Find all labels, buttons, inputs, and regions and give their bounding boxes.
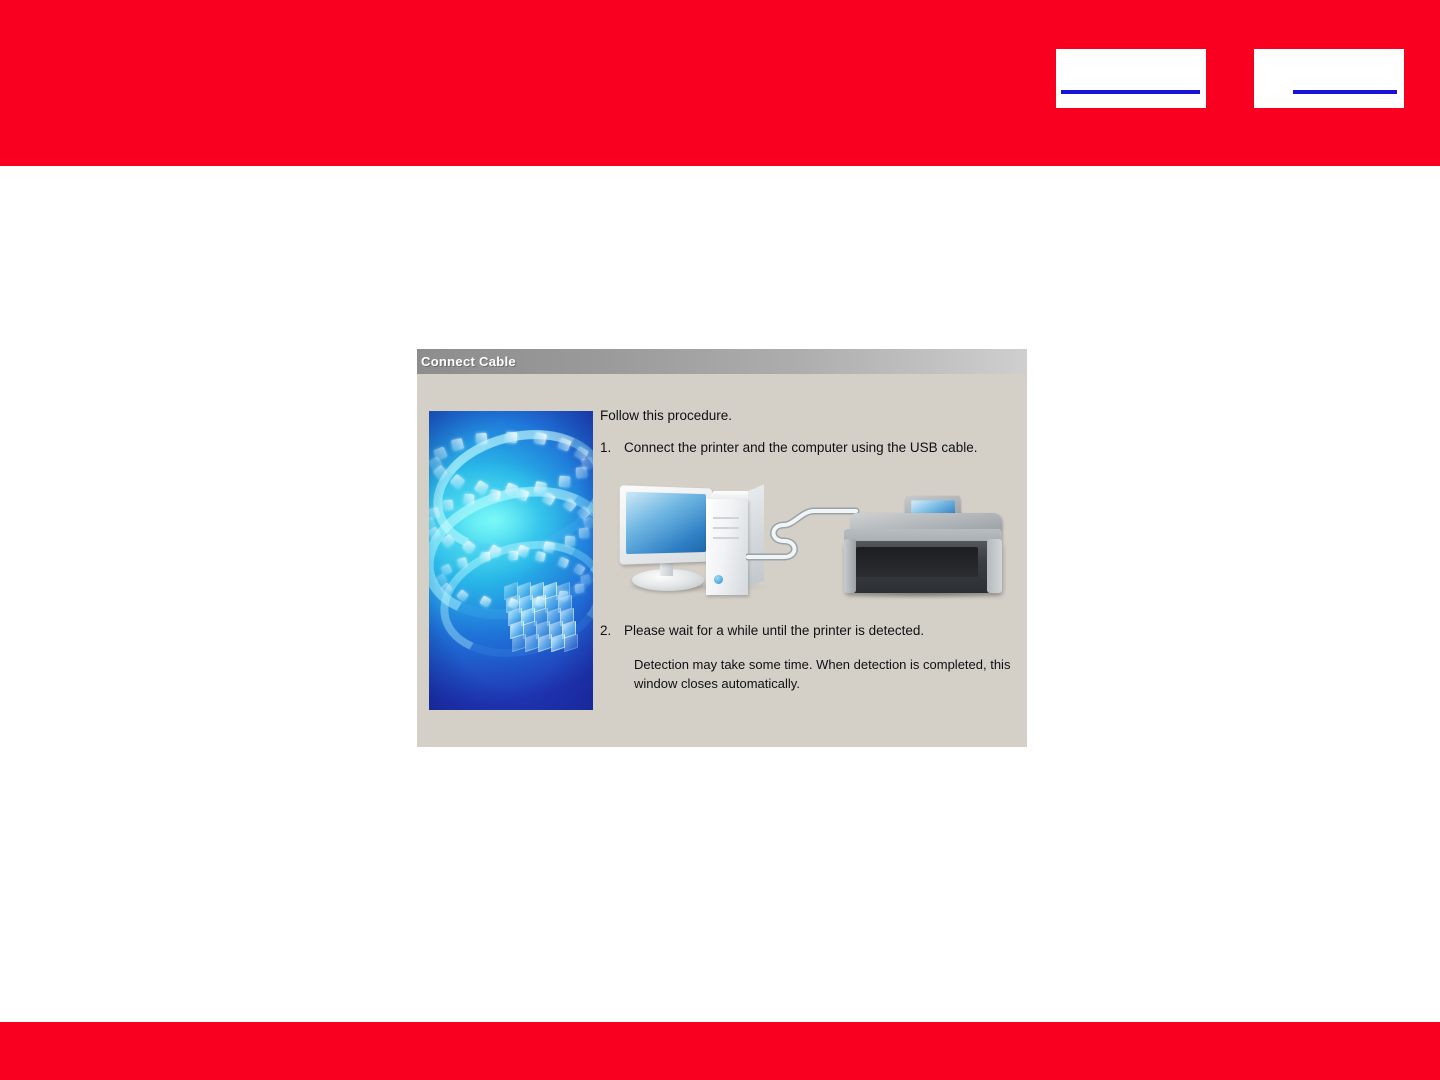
artwork-chip	[457, 557, 468, 568]
step-2-text: Please wait for a while until the printe…	[624, 623, 924, 638]
dialog-content: Follow this procedure. 1. Connect the pr…	[600, 408, 1012, 694]
detection-note-text: Detection may take some time. When detec…	[634, 656, 1012, 694]
dialog-titlebar[interactable]: Connect Cable	[417, 349, 1027, 374]
artwork-chip	[442, 500, 453, 511]
header-nav	[1056, 49, 1404, 108]
monitor-icon	[620, 485, 712, 565]
desktop-tower-icon	[706, 499, 748, 595]
artwork-chip	[579, 527, 590, 538]
tower-drive-slot-1	[713, 517, 739, 519]
artwork-chip	[575, 583, 585, 593]
procedure-step-2: 2. Please wait for a while until the pri…	[600, 623, 1012, 638]
tower-drive-slot-2	[713, 527, 739, 529]
procedure-step-1: 1. Connect the printer and the computer …	[600, 440, 1012, 455]
nav-link-1-underline	[1061, 90, 1200, 94]
sidebar-artwork-image	[429, 411, 593, 710]
artwork-chip	[535, 596, 546, 607]
nav-link-1[interactable]	[1056, 49, 1206, 108]
artwork-chip	[505, 431, 517, 443]
artwork-chip	[533, 480, 546, 493]
artwork-chip	[476, 433, 488, 445]
step-1-number: 1.	[600, 440, 624, 455]
procedure-lead-text: Follow this procedure.	[600, 408, 1012, 423]
connect-cable-dialog: Connect Cable Follow this procedure. 1. …	[417, 349, 1027, 747]
artwork-chip	[575, 467, 587, 479]
monitor-screen	[626, 492, 706, 554]
printer-left-edge	[844, 539, 856, 593]
tower-power-button	[714, 575, 723, 584]
printer-right-edge	[987, 539, 1002, 593]
artwork-chip	[565, 536, 576, 547]
printer-output-tray	[856, 547, 978, 577]
artwork-chip	[559, 591, 569, 601]
nav-link-2[interactable]	[1254, 49, 1404, 108]
step-2-number: 2.	[600, 623, 624, 638]
step-1-text: Connect the printer and the computer usi…	[624, 440, 977, 455]
dialog-body: Follow this procedure. 1. Connect the pr…	[417, 374, 1027, 747]
artwork-chip	[481, 552, 491, 562]
artwork-chip	[559, 476, 571, 488]
artwork-chip	[508, 550, 518, 560]
connection-illustration	[606, 477, 1006, 609]
tower-drive-slot-3	[713, 537, 739, 539]
dialog-title: Connect Cable	[421, 354, 516, 369]
artwork-chip	[464, 493, 475, 504]
page-footer-bar	[0, 1022, 1440, 1080]
nav-link-2-underline	[1293, 90, 1397, 94]
